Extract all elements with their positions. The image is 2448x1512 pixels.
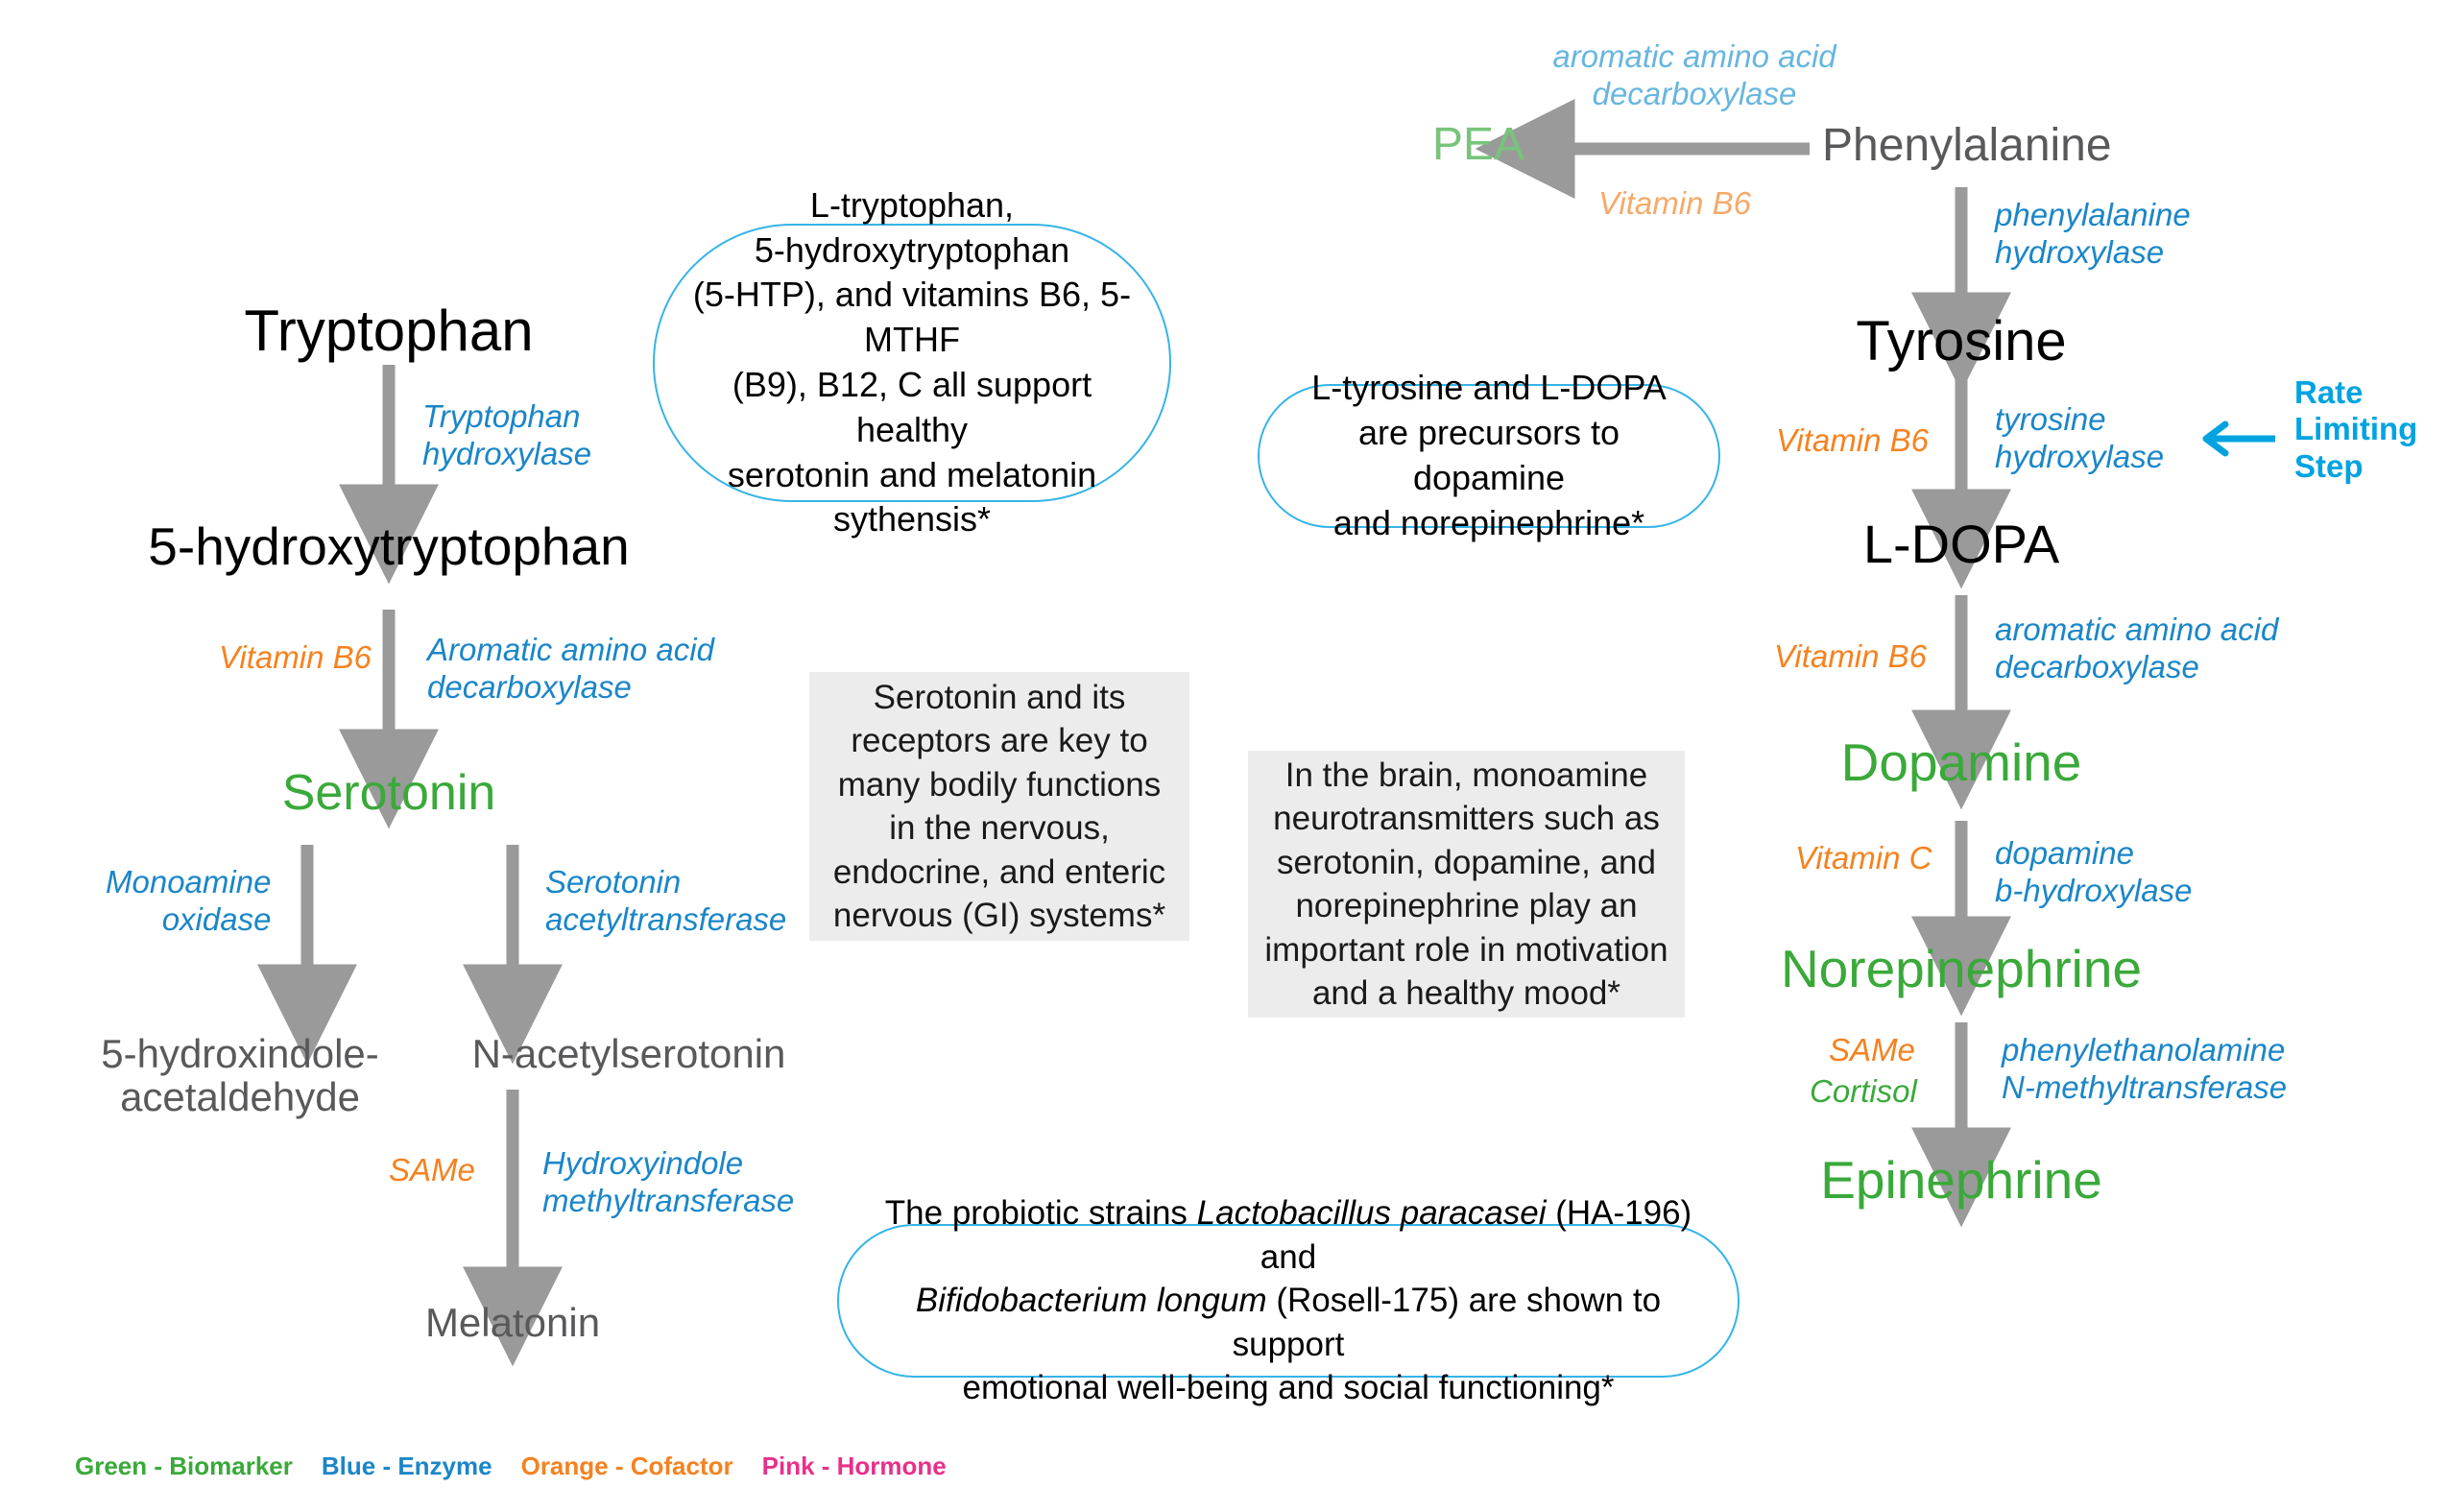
graybox-serotonin-receptors: Serotonin and itsreceptors are key toman… bbox=[809, 672, 1189, 941]
callout-probiotic: The probiotic strains Lactobacillus para… bbox=[837, 1224, 1740, 1378]
cofactor-vitamin-b6-pea: Vitamin B6 bbox=[1598, 185, 1751, 223]
node-l-dopa: L-DOPA bbox=[1863, 516, 2059, 573]
node-n-acetylserotonin: N-acetylserotonin bbox=[472, 1032, 786, 1075]
enzyme-hydroxyindole-methyltransferase: Hydroxyindolemethyltransferase bbox=[542, 1145, 794, 1220]
enzyme-phenylethanolamine-n-methyltransferase: phenylethanolamineN-methyltransferase bbox=[2002, 1032, 2287, 1107]
rate-limiting-arrow-icon bbox=[2206, 424, 2275, 453]
callout-tyrosine-precursors: L-tyrosine and L-DOPAare precursors to d… bbox=[1258, 384, 1720, 528]
pathway-diagram: Tryptophan Tryptophanhydroxylase 5-hydro… bbox=[0, 0, 2448, 1512]
node-5-hydroxytryptophan: 5-hydroxytryptophan bbox=[148, 518, 629, 575]
callout-tryptophan-support: L-tryptophan,5-hydroxytryptophan(5-HTP),… bbox=[653, 224, 1171, 502]
cofactor-same-melatonin: SAMe bbox=[389, 1152, 475, 1189]
cofactor-vitamin-b6-tyrosine: Vitamin B6 bbox=[1776, 422, 1929, 460]
node-5-hydroxindole-acetaldehyde: 5-hydroxindole-acetaldehyde bbox=[101, 1032, 379, 1119]
enzyme-phenylalanine-hydroxylase: phenylalaninehydroxylase bbox=[1995, 197, 2191, 272]
node-epinephrine: Epinephrine bbox=[1820, 1152, 2102, 1209]
node-serotonin: Serotonin bbox=[282, 766, 496, 820]
legend-item-cofactor: Orange - Cofactor bbox=[521, 1452, 733, 1481]
cofactor-vitamin-c: Vitamin C bbox=[1795, 840, 1932, 877]
legend: Green - Biomarker Blue - Enzyme Orange -… bbox=[75, 1452, 975, 1481]
hormone-cortisol: Cortisol bbox=[1810, 1073, 1917, 1111]
node-tryptophan: Tryptophan bbox=[244, 300, 533, 363]
legend-item-biomarker: Green - Biomarker bbox=[75, 1452, 293, 1481]
probiotic-species-bifidobacterium: Bifidobacterium longum bbox=[916, 1282, 1267, 1319]
cofactor-same-epinephrine: SAMe bbox=[1829, 1032, 1915, 1069]
probiotic-line3: emotional well-being and social function… bbox=[876, 1366, 1701, 1410]
node-dopamine: Dopamine bbox=[1841, 734, 2082, 791]
legend-item-hormone: Pink - Hormone bbox=[762, 1452, 947, 1481]
node-norepinephrine: Norepinephrine bbox=[1781, 941, 2142, 997]
probiotic-line2-post: (Rosell-175) are shown to support bbox=[1233, 1282, 1661, 1363]
node-pea: PEA bbox=[1432, 120, 1524, 170]
enzyme-aromatic-amino-acid-decarboxylase-pea: aromatic amino aciddecarboxylase bbox=[1536, 38, 1853, 113]
node-tyrosine: Tyrosine bbox=[1856, 312, 2066, 372]
cofactor-vitamin-b6-5htp: Vitamin B6 bbox=[219, 639, 372, 677]
rate-limiting-step-label: RateLimitingStep bbox=[2294, 374, 2417, 485]
enzyme-dopamine-b-hydroxylase: dopamineb-hydroxylase bbox=[1995, 835, 2192, 910]
enzyme-tyrosine-hydroxylase: tyrosinehydroxylase bbox=[1995, 401, 2164, 476]
enzyme-tryptophan-hydroxylase: Tryptophanhydroxylase bbox=[422, 398, 591, 473]
enzyme-serotonin-acetyltransferase: Serotoninacetyltransferase bbox=[545, 864, 786, 939]
graybox-monoamine-brain: In the brain, monoamineneurotransmitters… bbox=[1248, 751, 1685, 1018]
enzyme-aromatic-amino-acid-decarboxylase: Aromatic amino aciddecarboxylase bbox=[427, 632, 714, 707]
cofactor-vitamin-b6-ldopa: Vitamin B6 bbox=[1774, 638, 1927, 676]
legend-item-enzyme: Blue - Enzyme bbox=[322, 1452, 492, 1481]
probiotic-line1-pre: The probiotic strains bbox=[885, 1194, 1197, 1232]
enzyme-monoamine-oxidase: Monoamineoxidase bbox=[106, 864, 271, 939]
node-phenylalanine: Phenylalanine bbox=[1822, 121, 2112, 171]
node-melatonin: Melatonin bbox=[425, 1301, 600, 1344]
probiotic-species-lactobacillus: Lactobacillus paracasei bbox=[1197, 1194, 1547, 1232]
enzyme-aromatic-amino-acid-decarboxylase-dopamine: aromatic amino aciddecarboxylase bbox=[1995, 612, 2278, 686]
